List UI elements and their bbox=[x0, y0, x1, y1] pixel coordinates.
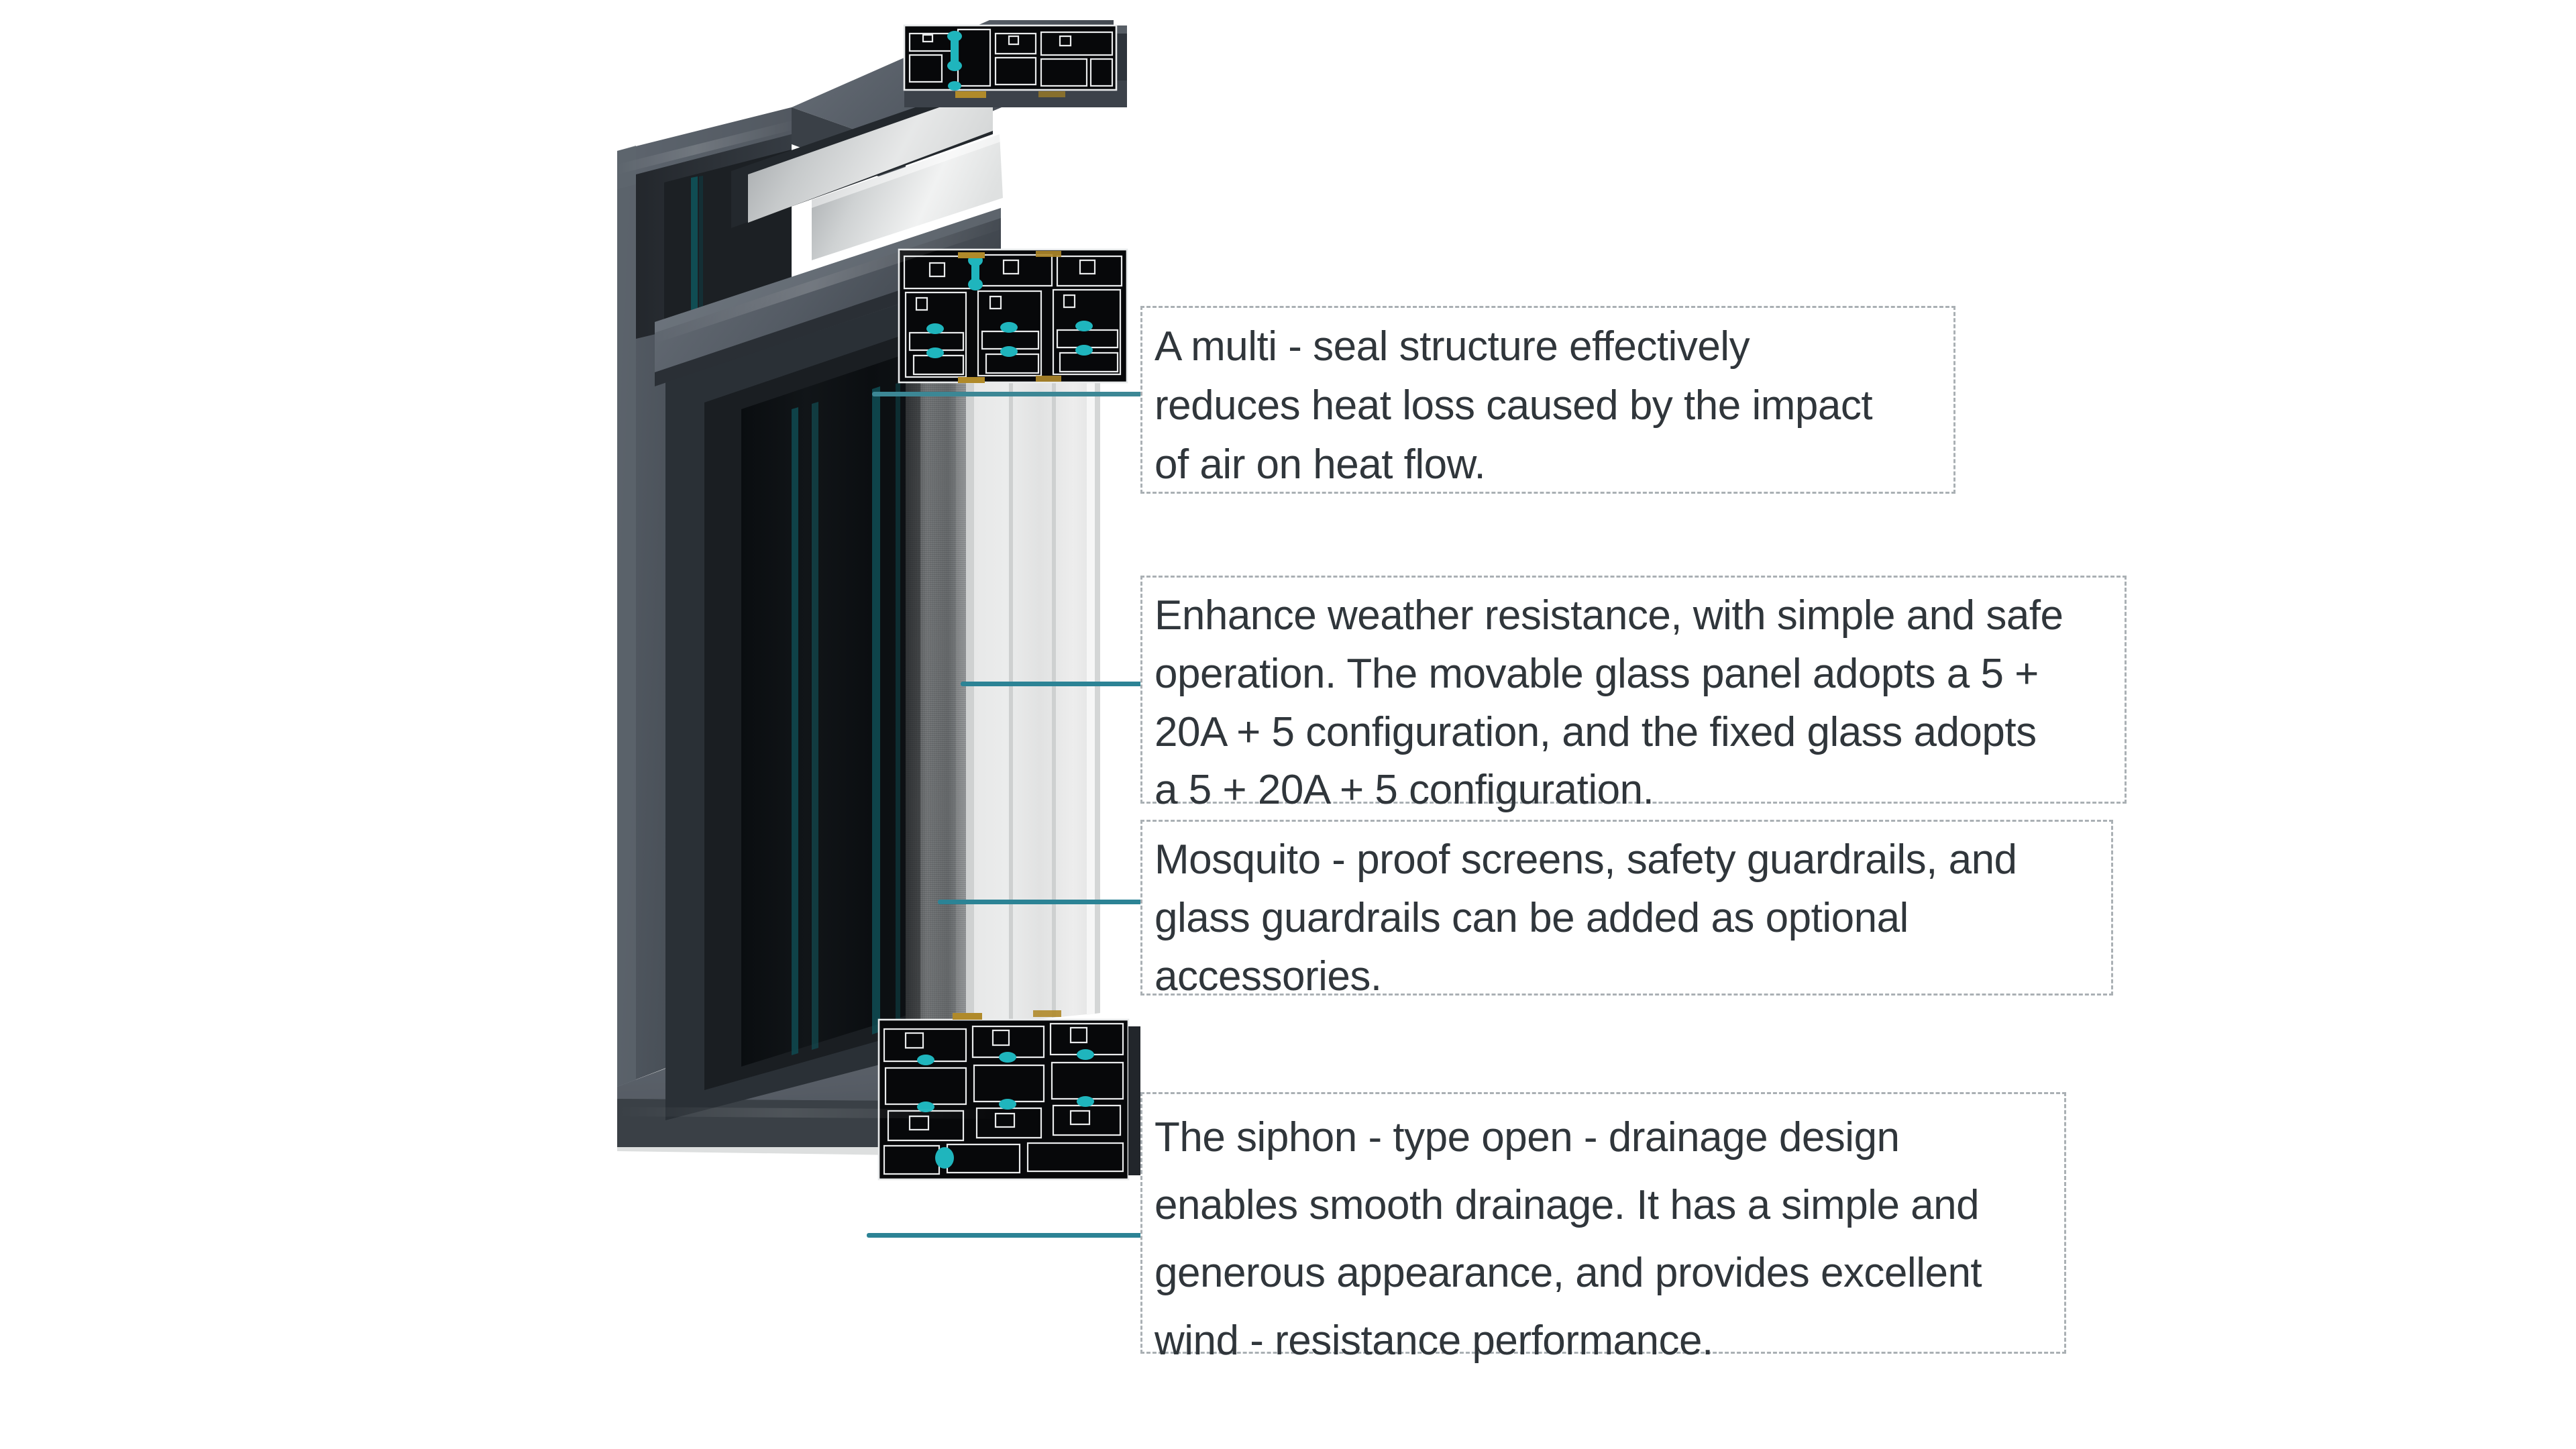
bottom-profile-cut bbox=[879, 1010, 1140, 1179]
callout-optional-accessories: Mosquito - proof screens, safety guardra… bbox=[1140, 820, 2113, 996]
leader-line-4 bbox=[867, 1233, 1144, 1238]
leader-line-3 bbox=[938, 900, 1144, 904]
leader-line-1 bbox=[872, 392, 1143, 396]
callout-text-4: The siphon - type open - drainage design… bbox=[1155, 1104, 2052, 1375]
callout-weather-resistance: Enhance weather resistance, with simple … bbox=[1140, 576, 2127, 804]
middle-profile-cut bbox=[899, 250, 1127, 383]
callout-multi-seal-structure: A multi - seal structure effectively red… bbox=[1140, 306, 1955, 494]
callout-siphon-drainage: The siphon - type open - drainage design… bbox=[1140, 1092, 2066, 1354]
callout-text-2: Enhance weather resistance, with simple … bbox=[1155, 587, 2112, 820]
leader-line-2 bbox=[961, 682, 1144, 686]
page-canvas: A multi - seal structure effectively red… bbox=[0, 0, 2576, 1449]
callout-text-3: Mosquito - proof screens, safety guardra… bbox=[1155, 831, 2099, 1006]
callout-text-1: A multi - seal structure effectively red… bbox=[1155, 317, 1941, 494]
top-profile-cut bbox=[904, 25, 1127, 107]
